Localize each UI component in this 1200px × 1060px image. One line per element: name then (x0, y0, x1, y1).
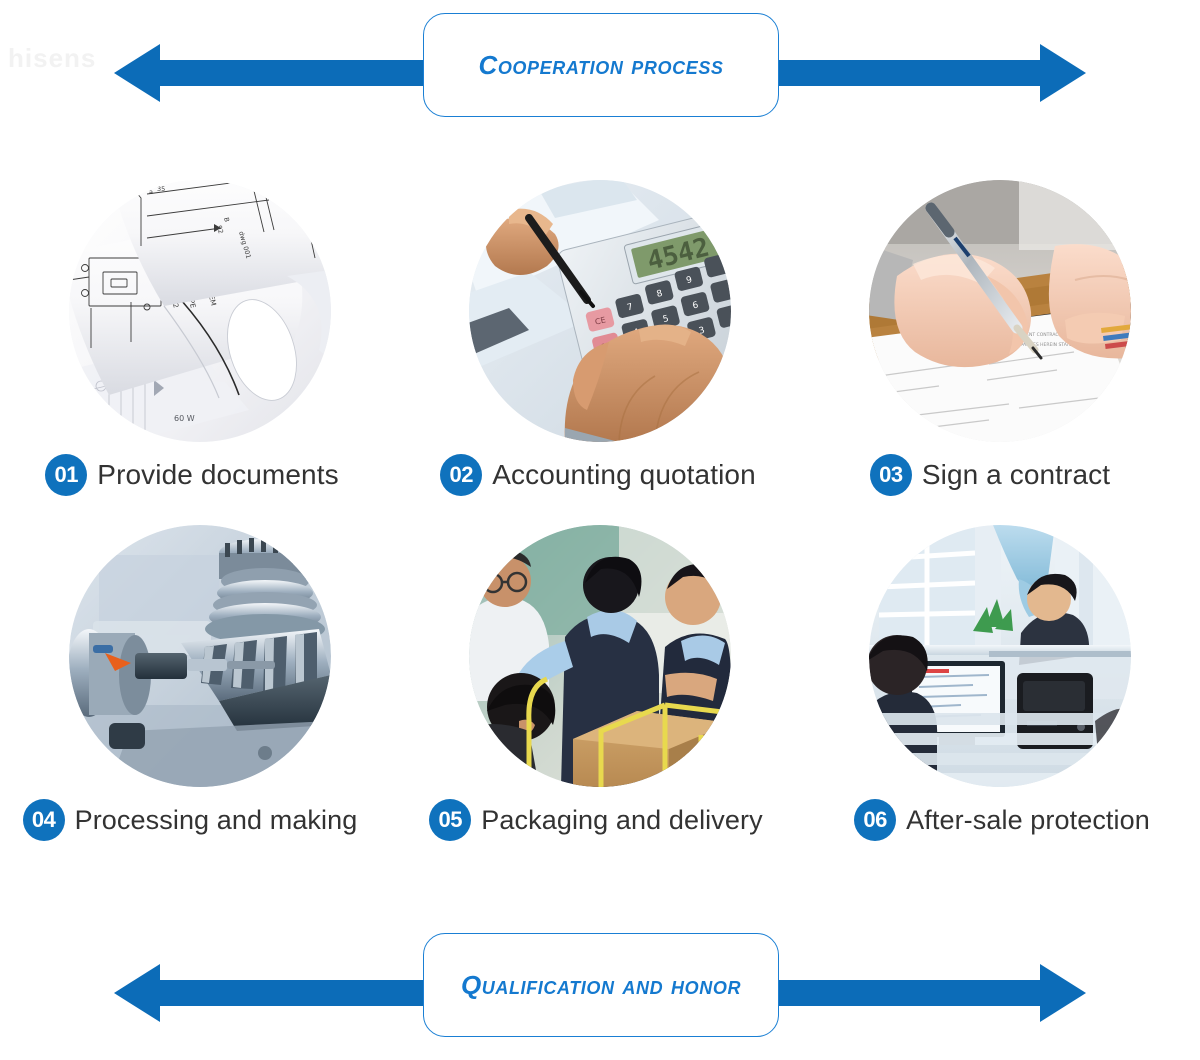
process-step-03[interactable]: AGREEMENT CONTRACT NO 1123 BETWEEN PARTI… (800, 180, 1200, 525)
step-badge-06: 06 (854, 799, 896, 841)
qualification-honor-banner: Qualification and honor (0, 930, 1200, 1060)
step-badge-05: 05 (429, 799, 471, 841)
caption-06: 06 After-sale protection (854, 799, 1150, 841)
svg-text:60 W: 60 W (174, 414, 195, 423)
svg-text:a: a (149, 188, 153, 196)
process-steps: 60 W (0, 180, 1200, 880)
process-steps-row-1: 60 W (0, 180, 1200, 525)
signing-contract-photo: AGREEMENT CONTRACT NO 1123 BETWEEN PARTI… (869, 180, 1131, 442)
packaging-workers-photo (469, 525, 731, 787)
step-label-06: After-sale protection (906, 805, 1150, 836)
caption-05: 05 Packaging and delivery (429, 799, 762, 841)
step-badge-01: 01 (45, 454, 87, 496)
step-label-04: Processing and making (75, 805, 358, 836)
qualification-honor-title: Qualification and honor (461, 970, 741, 1001)
step-badge-04: 04 (23, 799, 65, 841)
step-label-05: Packaging and delivery (481, 805, 762, 836)
svg-text:35: 35 (157, 185, 165, 193)
caption-03: 03 Sign a contract (870, 454, 1110, 496)
cooperation-process-box: Cooperation process (423, 13, 779, 117)
rolled-blueprints-photo: 60 W (69, 180, 331, 442)
cnc-machining-photo (69, 525, 331, 787)
caption-02: 02 Accounting quotation (440, 454, 756, 496)
process-step-04[interactable]: 04 Processing and making (0, 525, 400, 870)
step-label-02: Accounting quotation (492, 459, 756, 491)
process-step-02[interactable]: 4542 (400, 180, 800, 525)
step-label-01: Provide documents (97, 459, 338, 491)
caption-04: 04 Processing and making (23, 799, 358, 841)
step-badge-02: 02 (440, 454, 482, 496)
caption-01: 01 Provide documents (45, 454, 338, 496)
process-step-06[interactable]: 06 After-sale protection (800, 525, 1200, 870)
process-step-05[interactable]: 05 Packaging and delivery (400, 525, 800, 870)
cooperation-process-banner: Cooperation process (0, 0, 1200, 130)
step-badge-03: 03 (870, 454, 912, 496)
cooperation-process-title: Cooperation process (478, 50, 723, 81)
office-support-photo (869, 525, 1131, 787)
qualification-honor-box: Qualification and honor (423, 933, 779, 1037)
process-step-01[interactable]: 60 W (0, 180, 400, 525)
step-label-03: Sign a contract (922, 459, 1110, 491)
calculator-hands-photo: 4542 (469, 180, 731, 442)
process-steps-row-2: 04 Processing and making (0, 525, 1200, 870)
